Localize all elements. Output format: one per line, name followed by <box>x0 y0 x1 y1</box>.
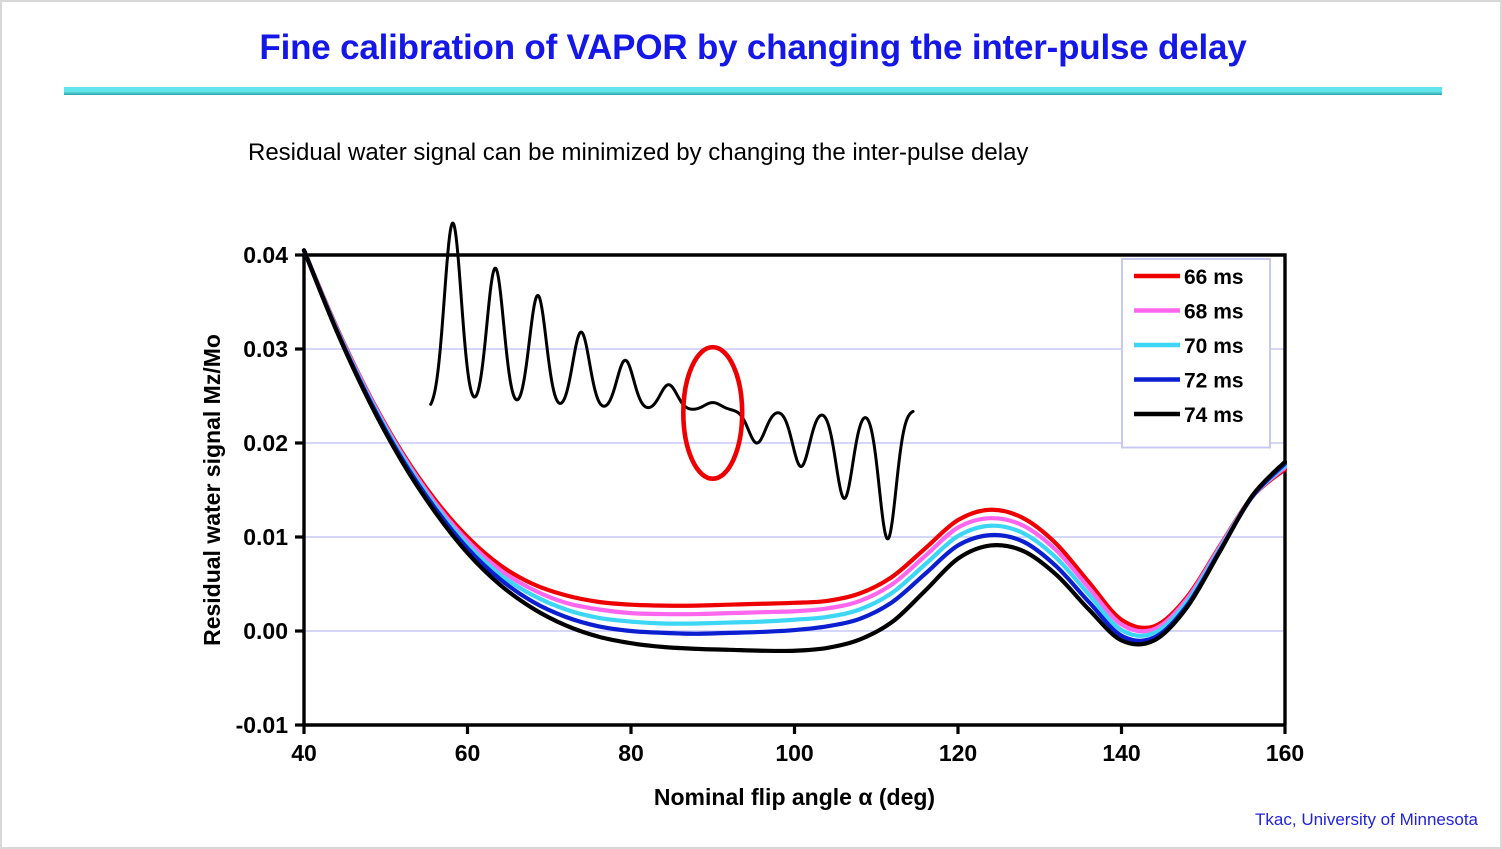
legend-label-72-ms[interactable]: 72 ms <box>1184 370 1244 393</box>
axis-titles: Nominal flip angle α (deg)Residual water… <box>199 334 935 810</box>
x-tick-label: 120 <box>939 740 977 766</box>
title-divider <box>64 87 1442 95</box>
y-axis-title: Residual water signal Mz/Mo <box>199 334 225 646</box>
attribution-credit: Tkac, University of Minnesota <box>1255 810 1478 830</box>
y-tick-label: -0.01 <box>236 712 289 738</box>
residual-water-signal-chart: -0.010.000.010.020.030.04 40608010012014… <box>2 192 1502 812</box>
x-tick-label: 100 <box>775 740 813 766</box>
inset-spectrum-layer <box>431 223 913 539</box>
legend-label-66-ms[interactable]: 66 ms <box>1184 266 1244 289</box>
y-axis-tick-labels: -0.010.000.010.020.030.04 <box>236 242 289 738</box>
slide-subtitle: Residual water signal can be minimized b… <box>248 139 1028 167</box>
y-tick-label: 0.04 <box>243 242 288 268</box>
y-tick-label: 0.01 <box>243 524 288 550</box>
y-tick-label: 0.03 <box>243 336 288 362</box>
x-axis-title: Nominal flip angle α (deg) <box>654 784 935 810</box>
legend-label-68-ms[interactable]: 68 ms <box>1184 301 1244 324</box>
x-tick-label: 160 <box>1266 740 1304 766</box>
x-tick-label: 140 <box>1102 740 1140 766</box>
x-tick-label: 80 <box>618 740 644 766</box>
y-tick-label: 0.00 <box>243 618 288 644</box>
null-point-highlight-ellipse <box>683 347 742 479</box>
page-title: Fine calibration of VAPOR by changing th… <box>2 28 1502 68</box>
y-tick-label: 0.02 <box>243 430 288 456</box>
x-axis-tick-labels: 406080100120140160 <box>291 740 1304 766</box>
inset-spectrum-trace <box>431 223 913 539</box>
x-tick-label: 40 <box>291 740 317 766</box>
legend-label-70-ms[interactable]: 70 ms <box>1184 335 1244 358</box>
x-tick-label: 60 <box>455 740 481 766</box>
annotation-ellipse <box>683 347 742 479</box>
slide-root: Fine calibration of VAPOR by changing th… <box>0 0 1502 849</box>
chart-legend[interactable]: 66 ms68 ms70 ms72 ms74 ms <box>1122 259 1270 448</box>
chart-container: -0.010.000.010.020.030.04 40608010012014… <box>2 192 1502 812</box>
legend-label-74-ms[interactable]: 74 ms <box>1184 404 1244 427</box>
